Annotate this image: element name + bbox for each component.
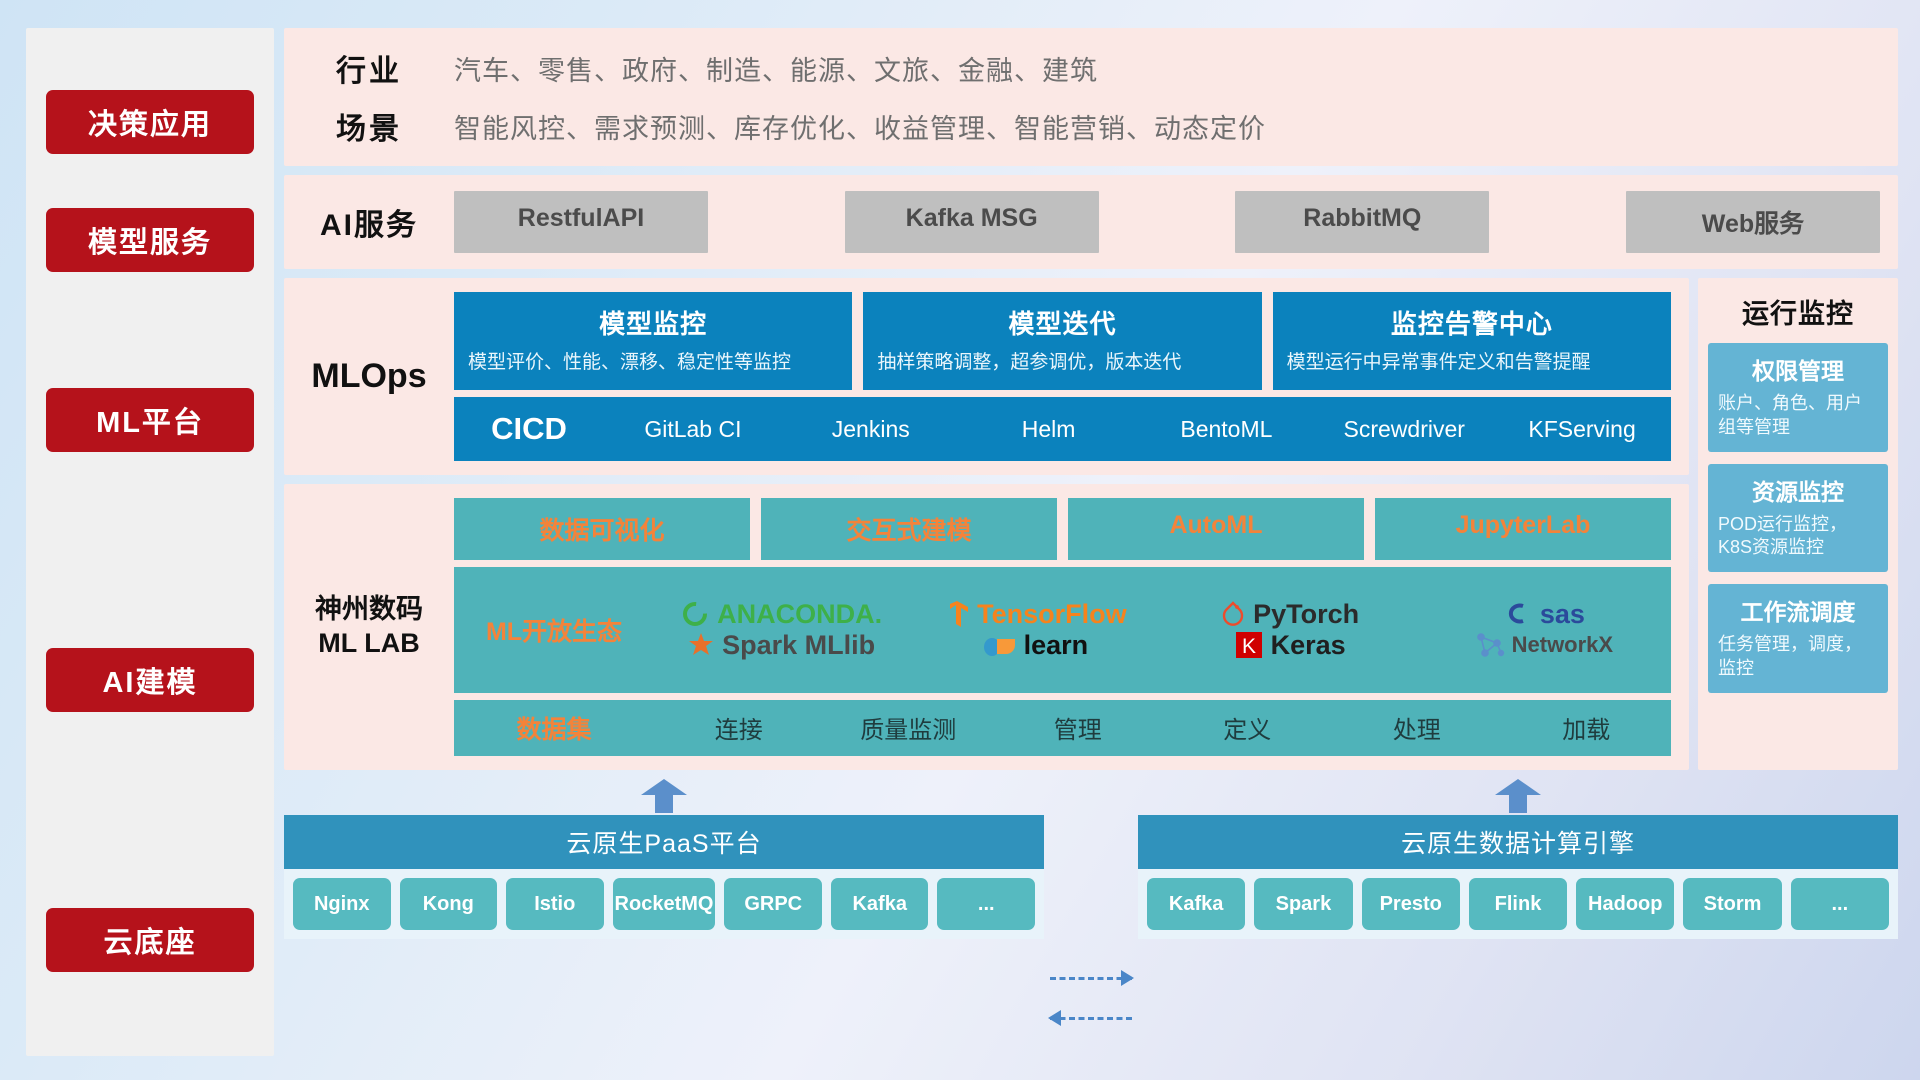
card-desc: 模型评价、性能、漂移、稳定性等监控 <box>468 350 838 376</box>
paas-chip-nginx[interactable]: Nginx <box>293 878 391 930</box>
ai-service-item-web[interactable]: Web服务 <box>1626 191 1880 253</box>
rail-item-ml-platform[interactable]: ML平台 <box>46 388 254 452</box>
spark-mllib-logo: Spark MLlib <box>654 630 908 661</box>
lab-tool-jupyterlab[interactable]: JupyterLab <box>1375 498 1671 560</box>
dataset-item-process[interactable]: 处理 <box>1332 710 1502 745</box>
logo-text: sas <box>1540 599 1585 630</box>
main-column: 行业 汽车、零售、政府、制造、能源、文旅、金融、建筑 场景 智能风控、需求预测、… <box>284 28 1898 1056</box>
dashed-line-left <box>1050 1017 1133 1020</box>
industry-value: 汽车、零售、政府、制造、能源、文旅、金融、建筑 <box>454 49 1098 88</box>
ml-ecosystem-logos: ANACONDA. TensorFlow <box>654 599 1671 661</box>
compute-chip-presto[interactable]: Presto <box>1362 878 1460 930</box>
lab-tool-interactive-modeling[interactable]: 交互式建模 <box>761 498 1057 560</box>
dashed-line-right <box>1050 977 1133 980</box>
cicd-item-helm[interactable]: Helm <box>960 417 1138 441</box>
compute-chip-more[interactable]: ... <box>1791 878 1889 930</box>
ml-ecosystem-row: ML开放生态 ANACONDA. <box>454 567 1671 693</box>
paas-group: 云原生PaaS平台 Nginx Kong Istio RocketMQ GRPC… <box>284 779 1044 939</box>
ai-service-band: AI服务 RestfulAPI Kafka MSG RabbitMQ Web服务 <box>284 175 1898 269</box>
mlops-card-model-iteration[interactable]: 模型迭代 抽样策略调整，超参调优，版本迭代 <box>863 292 1261 390</box>
compute-title: 云原生数据计算引擎 <box>1138 815 1898 869</box>
platform-and-monitor: MLOps 模型监控 模型评价、性能、漂移、稳定性等监控 模型迭代 抽样策略调整… <box>284 278 1898 770</box>
tensorflow-logo: TensorFlow <box>908 599 1162 630</box>
paas-chips: Nginx Kong Istio RocketMQ GRPC Kafka ... <box>284 869 1044 939</box>
rail-item-decision-app[interactable]: 决策应用 <box>46 90 254 154</box>
paas-chip-kong[interactable]: Kong <box>400 878 498 930</box>
dataset-items: 连接 质量监测 管理 定义 处理 加载 <box>654 710 1671 745</box>
card-desc: POD运行监控，K8S资源监控 <box>1718 513 1878 561</box>
card-desc: 任务管理，调度，监控 <box>1718 633 1878 681</box>
sas-logo: sas <box>1417 599 1671 630</box>
cloud-foundation-band: 云原生PaaS平台 Nginx Kong Istio RocketMQ GRPC… <box>284 789 1898 939</box>
cicd-item-gitlab-ci[interactable]: GitLab CI <box>604 417 782 441</box>
dataset-item-load[interactable]: 加载 <box>1502 710 1672 745</box>
arrow-right-icon <box>1121 970 1134 986</box>
logo-text: ANACONDA. <box>717 599 882 630</box>
mlops-card-model-monitoring[interactable]: 模型监控 模型评价、性能、漂移、稳定性等监控 <box>454 292 852 390</box>
architecture-diagram: 决策应用 模型服务 ML平台 AI建模 云底座 行业 汽车、零售、政府、制造、能… <box>0 0 1920 1080</box>
ai-service-item-rabbitmq[interactable]: RabbitMQ <box>1235 191 1489 253</box>
anaconda-logo: ANACONDA. <box>654 599 908 630</box>
ml-lab-band: 神州数码 ML LAB 数据可视化 交互式建模 AutoML JupyterLa… <box>284 484 1689 770</box>
scenario-row: 场景 智能风控、需求预测、库存优化、收益管理、智能营销、动态定价 <box>284 104 1898 148</box>
cicd-item-jenkins[interactable]: Jenkins <box>782 417 960 441</box>
runtime-monitor-header: 运行监控 <box>1708 292 1888 331</box>
svg-text:K: K <box>1242 635 1256 658</box>
ml-lab-tools: 数据可视化 交互式建模 AutoML JupyterLab <box>454 498 1671 560</box>
ml-lab-label: 神州数码 ML LAB <box>284 498 454 756</box>
logo-text: PyTorch <box>1253 599 1359 630</box>
paas-chip-istio[interactable]: Istio <box>506 878 604 930</box>
dataset-row: 数据集 连接 质量监测 管理 定义 处理 加载 <box>454 700 1671 756</box>
rail-item-cloud-base[interactable]: 云底座 <box>46 908 254 972</box>
mlops-cards: 模型监控 模型评价、性能、漂移、稳定性等监控 模型迭代 抽样策略调整，超参调优，… <box>454 292 1671 390</box>
card-desc: 抽样策略调整，超参调优，版本迭代 <box>877 350 1247 376</box>
mlops-band: MLOps 模型监控 模型评价、性能、漂移、稳定性等监控 模型迭代 抽样策略调整… <box>284 278 1689 475</box>
logo-text: TensorFlow <box>977 599 1127 630</box>
paas-chip-rocketmq[interactable]: RocketMQ <box>613 878 716 930</box>
ml-lab-label-line1: 神州数码 <box>315 594 423 624</box>
runtime-monitor-column: 运行监控 权限管理 账户、角色、用户组等管理 资源监控 POD运行监控，K8S资… <box>1698 278 1898 770</box>
lab-tool-data-visualization[interactable]: 数据可视化 <box>454 498 750 560</box>
compute-chip-kafka[interactable]: Kafka <box>1147 878 1245 930</box>
ml-ecosystem-label: ML开放生态 <box>454 612 654 648</box>
dataset-item-quality-monitor[interactable]: 质量监测 <box>824 710 994 745</box>
mlops-card-alert-center[interactable]: 监控告警中心 模型运行中异常事件定义和告警提醒 <box>1273 292 1671 390</box>
arrow-up-icon <box>641 779 687 813</box>
ml-lab-content: 数据可视化 交互式建模 AutoML JupyterLab ML开放生态 <box>454 498 1671 756</box>
card-title: 监控告警中心 <box>1287 304 1657 341</box>
mlops-content: 模型监控 模型评价、性能、漂移、稳定性等监控 模型迭代 抽样策略调整，超参调优，… <box>454 292 1671 461</box>
compute-chip-spark[interactable]: Spark <box>1254 878 1352 930</box>
scenario-value: 智能风控、需求预测、库存优化、收益管理、智能营销、动态定价 <box>454 107 1266 146</box>
compute-engine-group: 云原生数据计算引擎 Kafka Spark Presto Flink Hadoo… <box>1138 779 1898 939</box>
card-title: 权限管理 <box>1718 352 1878 386</box>
ai-service-label: AI服务 <box>284 200 454 244</box>
logo-text: Keras <box>1271 630 1346 661</box>
card-title: 工作流调度 <box>1718 593 1878 627</box>
monitor-card-permission[interactable]: 权限管理 账户、角色、用户组等管理 <box>1708 343 1888 452</box>
logo-text: NetworkX <box>1512 632 1613 658</box>
dataset-item-connect[interactable]: 连接 <box>654 710 824 745</box>
compute-chip-storm[interactable]: Storm <box>1683 878 1781 930</box>
cicd-item-bentoml[interactable]: BentoML <box>1137 417 1315 441</box>
cicd-label: CICD <box>454 411 604 447</box>
dataset-item-define[interactable]: 定义 <box>1163 710 1333 745</box>
layer-rail: 决策应用 模型服务 ML平台 AI建模 云底座 <box>26 28 274 1056</box>
industry-label: 行业 <box>284 46 454 90</box>
cicd-row: CICD GitLab CI Jenkins Helm BentoML Scre… <box>454 397 1671 461</box>
ai-service-item-kafka-msg[interactable]: Kafka MSG <box>845 191 1099 253</box>
cicd-items: GitLab CI Jenkins Helm BentoML Screwdriv… <box>604 417 1671 441</box>
ai-service-item-restfulapi[interactable]: RestfulAPI <box>454 191 708 253</box>
logo-text: learn <box>1024 630 1089 661</box>
compute-chip-hadoop[interactable]: Hadoop <box>1576 878 1674 930</box>
rail-item-ai-modeling[interactable]: AI建模 <box>46 648 254 712</box>
monitor-card-workflow[interactable]: 工作流调度 任务管理，调度，监控 <box>1708 584 1888 693</box>
pytorch-logo: PyTorch <box>1163 599 1417 630</box>
card-title: 模型迭代 <box>877 304 1247 341</box>
lab-tool-automl[interactable]: AutoML <box>1068 498 1364 560</box>
scenario-label: 场景 <box>284 104 454 148</box>
scikit-learn-logo: learn <box>908 630 1162 661</box>
compute-chips: Kafka Spark Presto Flink Hadoop Storm ..… <box>1138 869 1898 939</box>
ai-service-items: RestfulAPI Kafka MSG RabbitMQ Web服务 <box>454 191 1880 253</box>
paas-chip-grpc[interactable]: GRPC <box>724 878 822 930</box>
rail-item-model-service[interactable]: 模型服务 <box>46 208 254 272</box>
dataset-label: 数据集 <box>454 710 654 746</box>
arrow-left-icon <box>1048 1010 1061 1026</box>
card-title: 模型监控 <box>468 304 838 341</box>
card-desc: 模型运行中异常事件定义和告警提醒 <box>1287 350 1657 376</box>
card-title: 资源监控 <box>1718 473 1878 507</box>
paas-title: 云原生PaaS平台 <box>284 815 1044 869</box>
mlops-label: MLOps <box>284 292 454 461</box>
industry-row: 行业 汽车、零售、政府、制造、能源、文旅、金融、建筑 <box>284 46 1898 90</box>
cicd-item-screwdriver[interactable]: Screwdriver <box>1315 417 1493 441</box>
platform-column: MLOps 模型监控 模型评价、性能、漂移、稳定性等监控 模型迭代 抽样策略调整… <box>284 278 1689 770</box>
card-desc: 账户、角色、用户组等管理 <box>1718 392 1878 440</box>
paas-chip-kafka[interactable]: Kafka <box>831 878 929 930</box>
arrow-up-icon <box>1495 779 1541 813</box>
dataset-item-manage[interactable]: 管理 <box>993 710 1163 745</box>
decision-application-band: 行业 汽车、零售、政府、制造、能源、文旅、金融、建筑 场景 智能风控、需求预测、… <box>284 28 1898 166</box>
ml-lab-label-line2: ML LAB <box>318 628 420 658</box>
keras-logo: K Keras <box>1163 630 1417 661</box>
cicd-item-kfserving[interactable]: KFServing <box>1493 417 1671 441</box>
networkx-logo: NetworkX <box>1417 631 1671 659</box>
logo-text: Spark MLlib <box>722 630 875 661</box>
paas-chip-more[interactable]: ... <box>937 878 1035 930</box>
compute-chip-flink[interactable]: Flink <box>1469 878 1567 930</box>
monitor-card-resource[interactable]: 资源监控 POD运行监控，K8S资源监控 <box>1708 464 1888 573</box>
